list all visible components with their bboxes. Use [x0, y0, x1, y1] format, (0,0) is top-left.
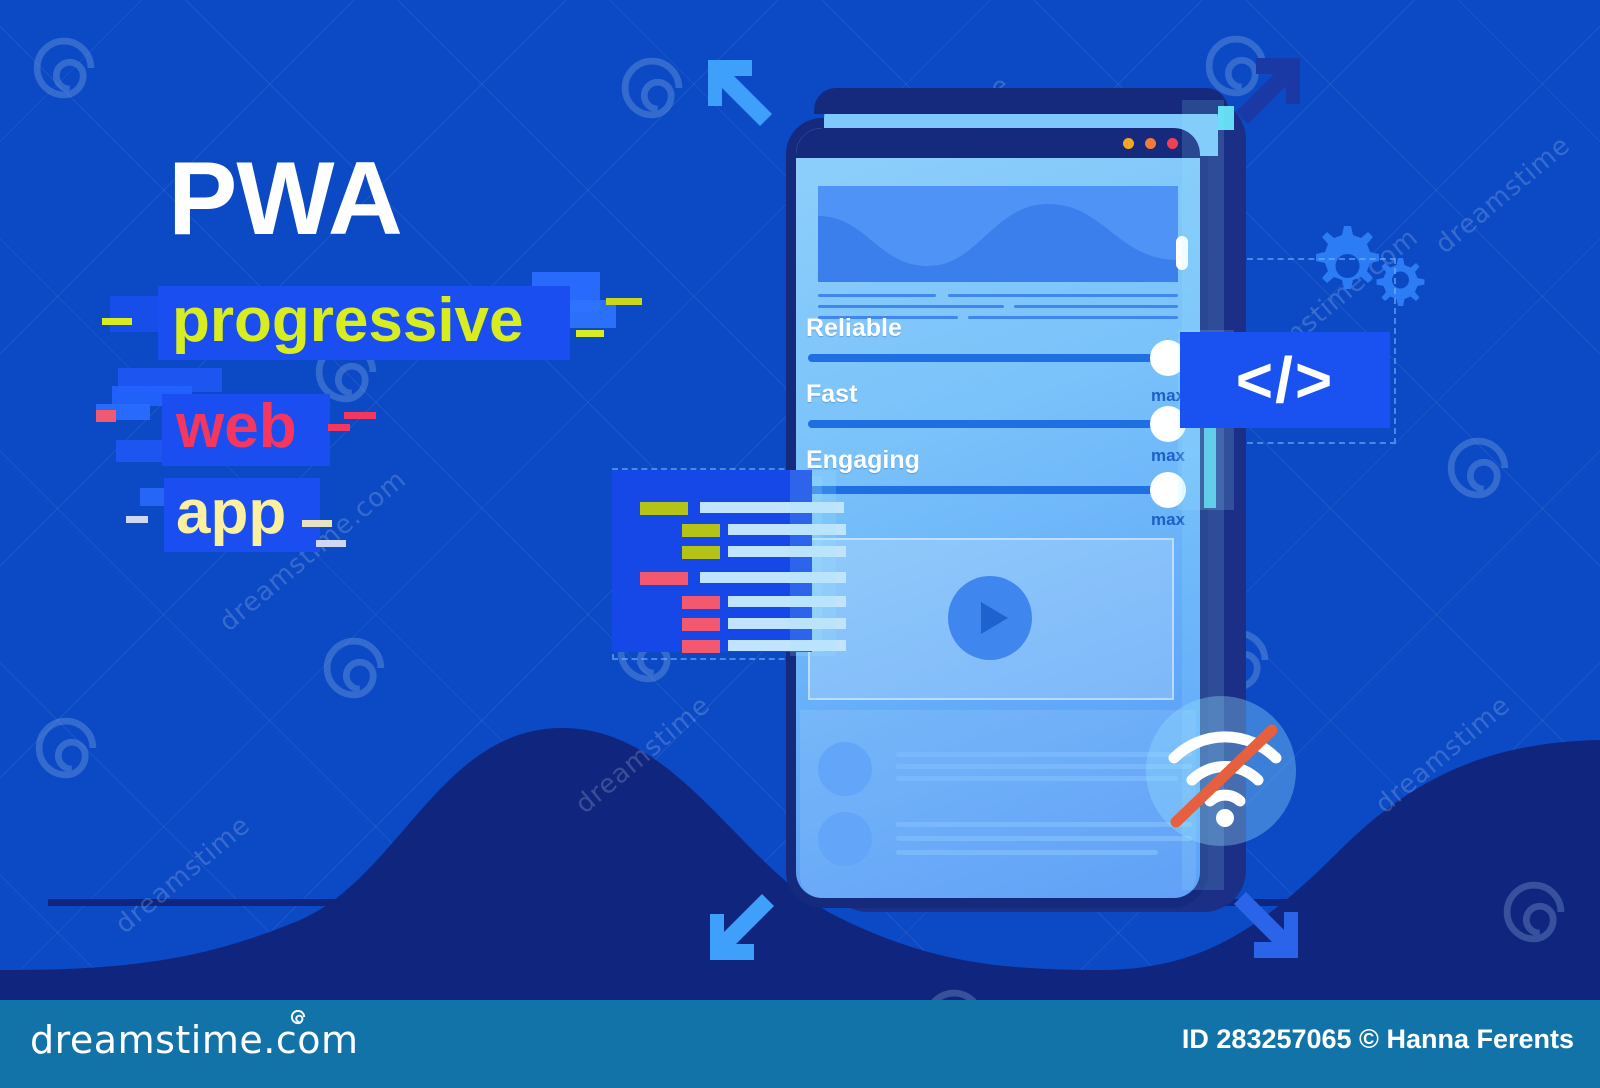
word-progressive: progressive [172, 290, 524, 352]
code-token [682, 524, 720, 537]
dash-accent [316, 540, 346, 547]
text-line [1014, 305, 1178, 308]
glass-overlay [790, 470, 836, 656]
spiral-watermark-icon [1430, 420, 1526, 516]
spiral-watermark-icon [1486, 864, 1582, 960]
feature-label-reliable: Reliable [806, 314, 902, 343]
slider-track-fast[interactable] [808, 420, 1168, 428]
code-token [682, 618, 720, 631]
browser-dot-maximize[interactable] [1145, 138, 1156, 149]
code-token [682, 596, 720, 609]
play-icon [948, 576, 1032, 660]
glitch-block [96, 410, 116, 422]
play-button[interactable] [948, 576, 1032, 660]
avatar [818, 812, 872, 866]
code-token [682, 640, 720, 653]
slider-track-reliable[interactable] [808, 354, 1168, 362]
code-tag-badge[interactable]: </> [1180, 332, 1390, 428]
wifi-off-icon [1150, 700, 1300, 850]
text-line [818, 305, 1004, 308]
dreamstime-logo[interactable]: dreamstime.com [30, 1018, 358, 1062]
word-web: web [176, 396, 297, 458]
browser-dot-close[interactable] [1167, 138, 1178, 149]
slider-track-engaging[interactable] [808, 486, 1168, 494]
text-line [948, 294, 1178, 297]
text-line [818, 294, 936, 297]
text-line [896, 850, 1158, 855]
browser-dot-minimize[interactable] [1123, 138, 1134, 149]
dash-accent [606, 298, 642, 305]
dash-accent [344, 412, 376, 419]
spiral-watermark-icon [18, 700, 114, 796]
dash-accent [328, 424, 350, 431]
feature-label-fast: Fast [806, 380, 857, 409]
headline-group: PWA [168, 150, 708, 249]
bottom-card [800, 710, 1196, 898]
dash-accent [576, 330, 604, 337]
code-token [640, 502, 688, 515]
text-line [896, 776, 1178, 781]
dash-accent [126, 516, 148, 523]
page-title: PWA [168, 150, 708, 249]
dreamstime-spiral-icon [287, 1006, 309, 1028]
spiral-watermark-icon [16, 20, 112, 116]
code-tag-icon: </> [1180, 332, 1390, 428]
background-window-bar [814, 88, 1228, 114]
footer-bar: dreamstime.com ID 283257065 © Hanna Fere… [0, 1000, 1600, 1088]
spiral-watermark-icon [604, 40, 700, 136]
cyan-accent [1218, 106, 1234, 130]
code-token [640, 572, 688, 585]
browser-toolbar [796, 128, 1200, 158]
text-line [896, 822, 1192, 827]
dash-accent [102, 318, 132, 325]
word-app: app [176, 482, 286, 544]
image-credit: ID 283257065 © Hanna Ferents [1182, 1024, 1574, 1055]
video-player[interactable] [808, 538, 1174, 700]
arrow-expand-up-left-icon[interactable] [700, 52, 796, 148]
text-line [896, 836, 1192, 841]
hero-image [818, 186, 1178, 282]
code-token [682, 546, 720, 559]
background-ground-line [48, 899, 1548, 906]
spiral-watermark-icon [306, 620, 402, 716]
arrow-expand-down-left-icon[interactable] [702, 872, 798, 968]
dash-accent [302, 520, 332, 527]
text-line [968, 316, 1178, 319]
slider-value-engaging: max [1151, 510, 1185, 530]
avatar [818, 742, 872, 796]
illustration-canvas: dreamstime.com dreamstime dreamstime.com… [0, 0, 1600, 1088]
